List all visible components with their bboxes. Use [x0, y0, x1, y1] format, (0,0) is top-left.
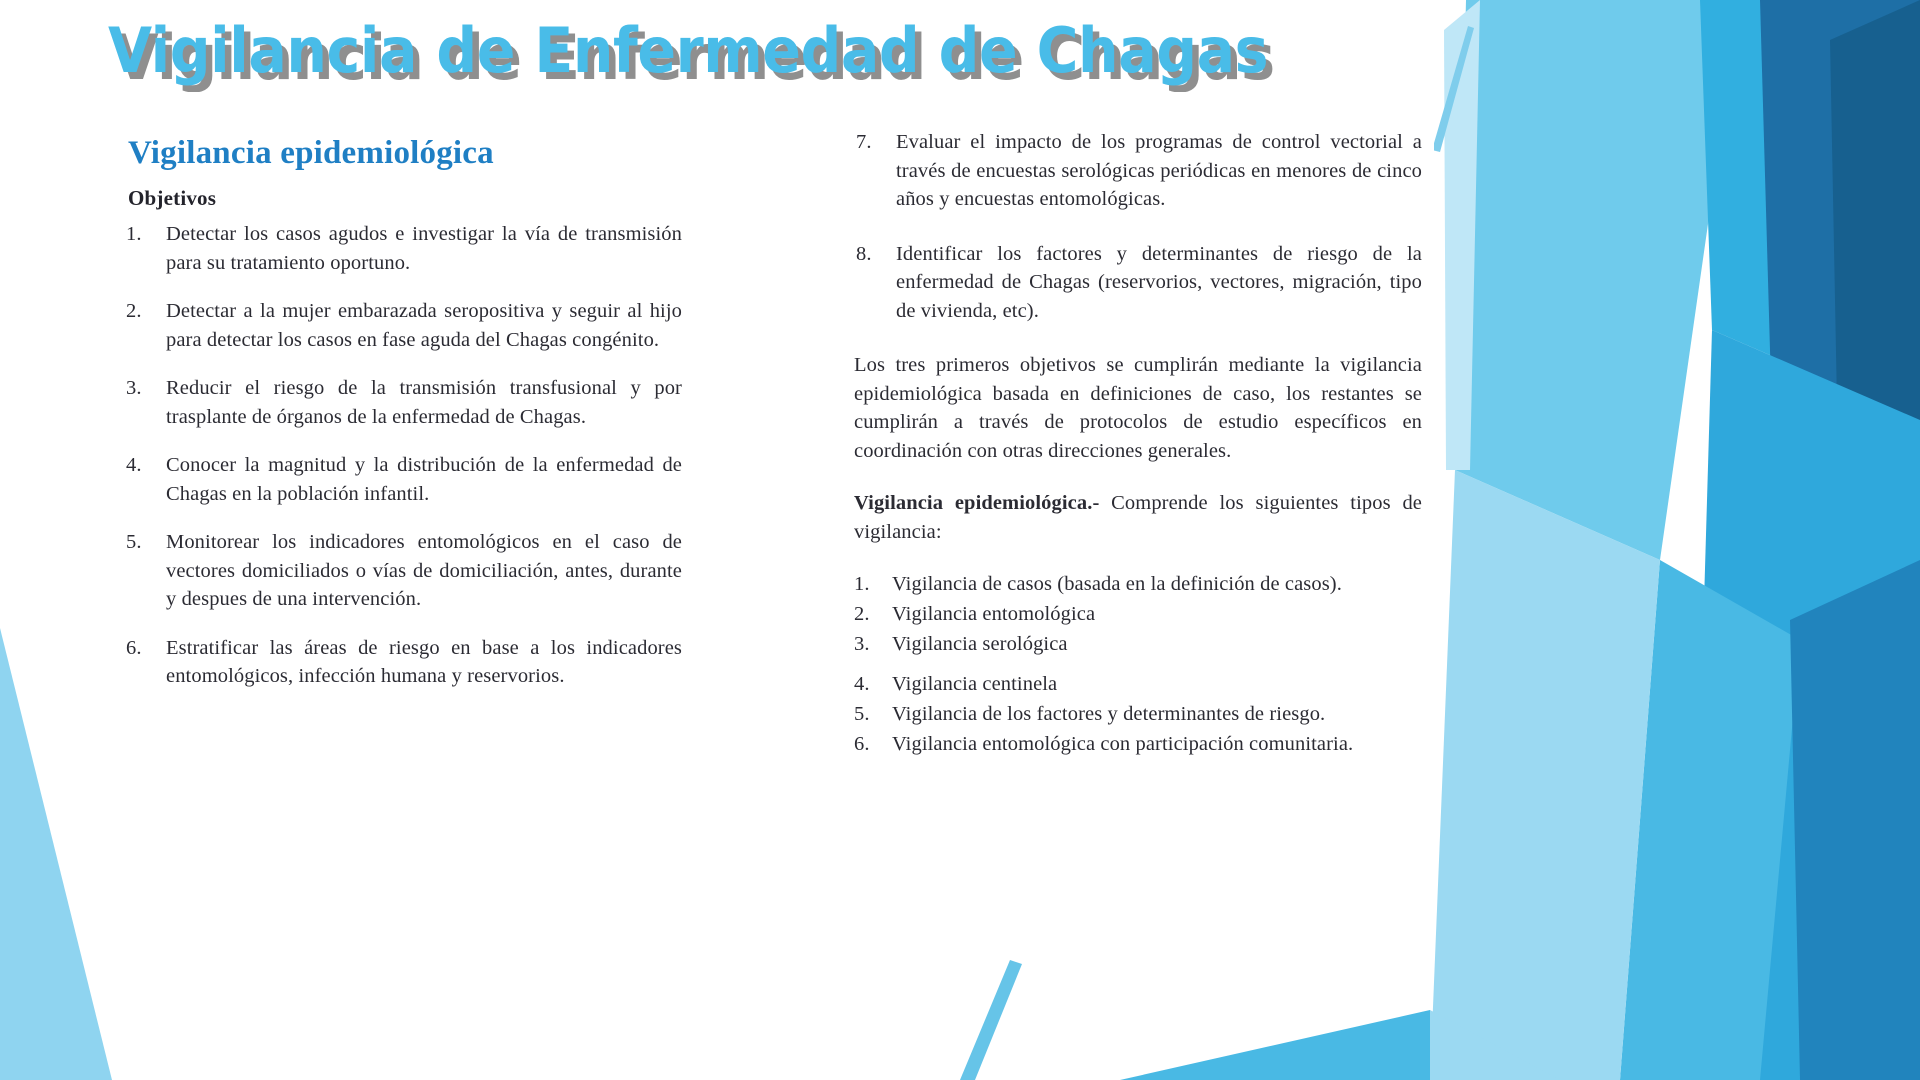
shape-right-pale-1 [1400, 0, 1920, 1080]
list-item-text: Vigilancia de casos (basada en la defini… [892, 573, 1342, 595]
list-item-number: 5. [854, 700, 886, 728]
shape-bottom-left-wedge [1120, 1010, 1430, 1080]
list-item-number: 4. [854, 670, 886, 698]
list-item: 8. Identificar los factores y determinan… [850, 240, 1422, 326]
list-item-text: Reducir el riesgo de la transmisión tran… [166, 374, 682, 431]
list-item-text: Vigilancia centinela [892, 673, 1057, 695]
shape-right-cyan-b [1700, 0, 1920, 420]
shape-right-mid-a [1690, 330, 1920, 1080]
list-item-number: 3. [126, 374, 160, 403]
list-item-text: Detectar a la mujer embarazada seroposit… [166, 297, 682, 354]
list-item-number: 1. [126, 220, 160, 249]
shape-bottom-right-wedge [1430, 1010, 1560, 1080]
definition-paragraph: Vigilancia epidemiológica.- Comprende lo… [854, 489, 1422, 546]
list-item-text: Vigilancia de los factores y determinant… [892, 703, 1325, 725]
list-item-number: 1. [854, 570, 886, 598]
right-column: 7. Evaluar el impacto de los programas d… [838, 118, 1434, 780]
document-content: Vigilancia epidemiológica Objetivos 1. D… [120, 122, 1420, 846]
shape-right-sliver [1444, 0, 1480, 470]
list-item: 6. Estratificar las áreas de riesgo en b… [120, 634, 682, 691]
shape-right-mid-b [1620, 560, 1800, 1080]
definition-lead: Vigilancia epidemiológica.- [854, 492, 1099, 514]
list-item: 7. Evaluar el impacto de los programas d… [850, 128, 1422, 214]
list-item: 5. Vigilancia de los factores y determin… [850, 700, 1422, 728]
left-column: Vigilancia epidemiológica Objetivos 1. D… [120, 122, 682, 711]
list-item: 2. Detectar a la mujer embarazada seropo… [120, 297, 682, 354]
list-item-text: Monitorear los indicadores entomológicos… [166, 528, 682, 614]
list-item-number: 2. [126, 297, 160, 326]
list-item: 3. Reducir el riesgo de la transmisión t… [120, 374, 682, 431]
objectives-list-right: 7. Evaluar el impacto de los programas d… [850, 128, 1422, 325]
list-item: 4. Conocer la magnitud y la distribución… [120, 451, 682, 508]
list-item-text: Evaluar el impacto de los programas de c… [896, 128, 1422, 214]
list-item: 2. Vigilancia entomológica [850, 600, 1422, 628]
list-item-text: Vigilancia serológica [892, 633, 1068, 655]
section-heading: Vigilancia epidemiológica [128, 134, 682, 172]
summary-paragraph: Los tres primeros objetivos se cumplirán… [854, 351, 1422, 465]
shape-bottom-diagonal-line [960, 960, 1022, 1080]
objectives-list-left: 1. Detectar los casos agudos e investiga… [120, 220, 682, 691]
list-item: 1. Vigilancia de casos (basada en la def… [850, 570, 1422, 598]
list-item: 4. Vigilancia centinela [850, 670, 1422, 698]
shape-right-cyan-a [1455, 0, 1740, 560]
list-item-text: Detectar los casos agudos e investigar l… [166, 220, 682, 277]
list-item: 5. Monitorear los indicadores entomológi… [120, 528, 682, 614]
shape-right-navy-b [1830, 0, 1920, 760]
shape-top-hairline [1432, 26, 1474, 152]
list-item: 3. Vigilancia serológica [850, 630, 1422, 658]
surveillance-types-list: 1. Vigilancia de casos (basada en la def… [850, 570, 1422, 758]
list-item-number: 6. [854, 730, 886, 758]
list-item-number: 5. [126, 528, 160, 557]
list-item-text: Vigilancia entomológica [892, 603, 1095, 625]
list-item-text: Identificar los factores y determinantes… [896, 240, 1422, 326]
list-item-text: Conocer la magnitud y la distribución de… [166, 451, 682, 508]
list-item-number: 7. [856, 128, 890, 157]
list-item-number: 6. [126, 634, 160, 663]
presentation-slide: Vigilancia de Enfermedad de Chagas Vigil… [0, 0, 1920, 1080]
list-item-text: Estratificar las áreas de riesgo en base… [166, 634, 682, 691]
objectives-label: Objetivos [128, 186, 682, 210]
shape-right-navy-a [1760, 0, 1920, 700]
shape-right-deep-a [1790, 560, 1920, 1080]
page-title: Vigilancia de Enfermedad de Chagas [108, 14, 1268, 88]
list-item-number: 4. [126, 451, 160, 480]
list-item-number: 3. [854, 630, 886, 658]
shape-bottom-left-triangle [0, 628, 112, 1080]
shape-right-pale-2 [1430, 470, 1660, 1080]
list-item-number: 8. [856, 240, 890, 269]
list-item: 6. Vigilancia entomológica con participa… [850, 730, 1422, 758]
list-item-text: Vigilancia entomológica con participació… [892, 733, 1353, 755]
list-item: 1. Detectar los casos agudos e investiga… [120, 220, 682, 277]
list-item-number: 2. [854, 600, 886, 628]
